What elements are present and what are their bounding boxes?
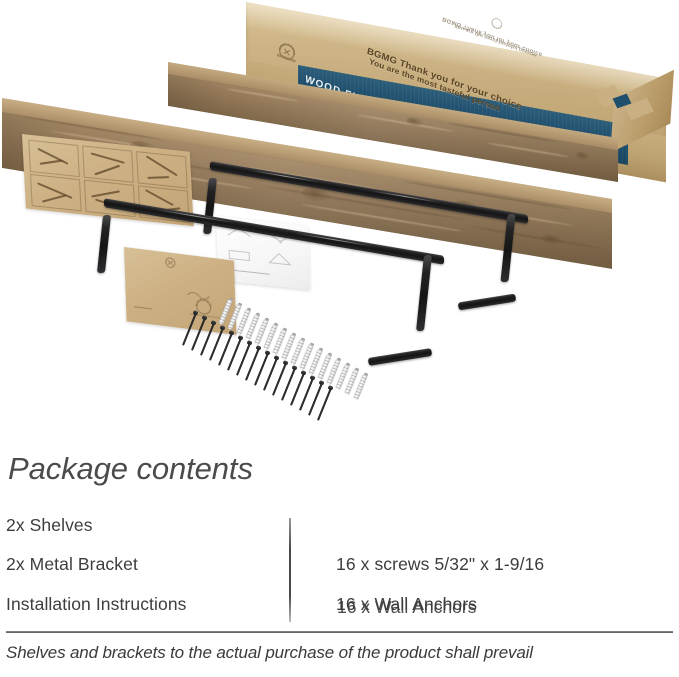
metal-bracket-front (100, 215, 470, 415)
column-divider (289, 518, 291, 622)
contents-item-bracket: 2x Metal Bracket (6, 554, 138, 575)
contents-item-screws: 16 x screws 5/32" x 1-9/16 (336, 554, 544, 575)
product-photo: BGMG Thank you for your choice You are t… (0, 0, 679, 440)
page-title: Package contents (8, 451, 253, 487)
contents-item-shelves: 2x Shelves (6, 515, 93, 536)
brand-roundel-logo-mirrored (486, 13, 510, 34)
bracket-back-arm-right (500, 214, 515, 282)
disclaimer-note: Shelves and brackets to the actual purch… (6, 643, 533, 663)
contents-item-instructions: Installation Instructions (6, 594, 187, 615)
contents-item-anchors-overlap: 16 x Wall Anchors (337, 597, 476, 618)
bracket-front-arm-left (97, 215, 111, 273)
section-rule (6, 631, 673, 633)
package-contents-panel: Package contents 2x Shelves 2x Metal Bra… (0, 440, 679, 677)
bracket-front-foot (368, 348, 432, 366)
bracket-front-arm-right (416, 255, 432, 331)
